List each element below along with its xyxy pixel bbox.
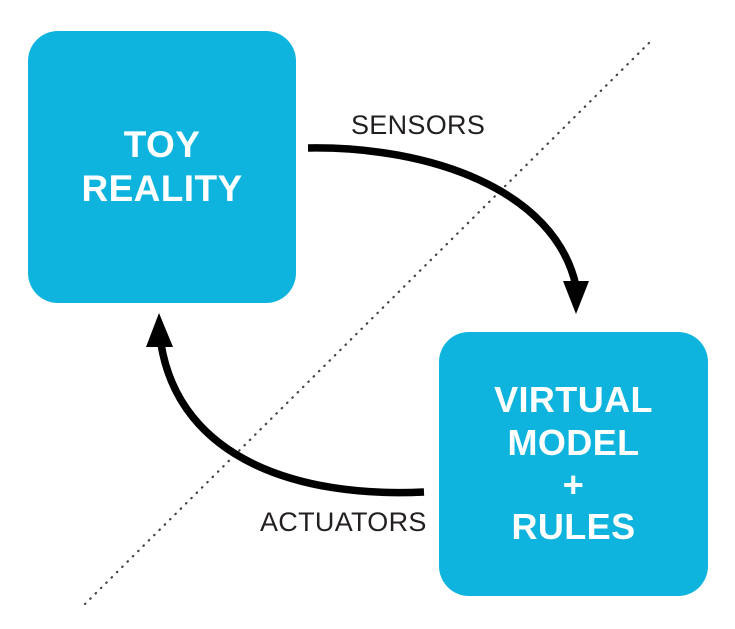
diagram-canvas: TOY REALITY VIRTUAL MODEL + RULES SENSOR… [0,0,735,629]
edge-label-sensors: SENSORS [351,110,485,141]
edge-sensors-arrow [308,148,589,314]
edge-actuators-arrow [146,313,424,493]
node-virtual-model-label: VIRTUAL MODEL + RULES [439,379,708,549]
node-toy-reality[interactable]: TOY REALITY [28,31,296,303]
node-toy-reality-label: TOY REALITY [28,123,296,210]
edge-label-actuators: ACTUATORS [260,507,427,538]
node-virtual-model[interactable]: VIRTUAL MODEL + RULES [439,332,708,596]
